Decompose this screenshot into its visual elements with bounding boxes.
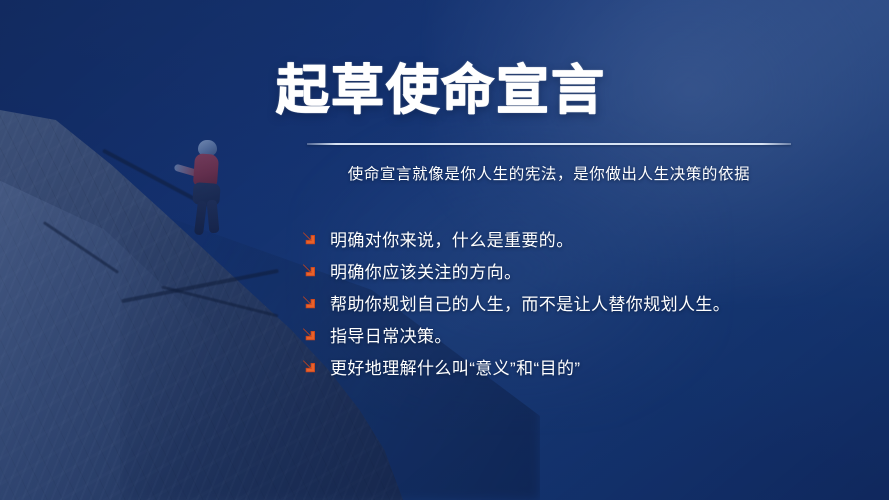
arrow-down-right-icon [300, 293, 330, 311]
list-item: 明确对你来说，什么是重要的。 [300, 222, 860, 254]
list-item-label: 明确你应该关注的方向。 [330, 258, 521, 283]
arrow-down-right-icon [300, 357, 330, 375]
list-item: 帮助你规划自己的人生，而不是让人替你规划人生。 [300, 286, 860, 318]
list-item: 指导日常决策。 [300, 318, 860, 350]
arrow-down-right-icon [300, 229, 330, 247]
list-item: 明确你应该关注的方向。 [300, 254, 860, 286]
list-item-label: 指导日常决策。 [330, 322, 452, 347]
presentation-slide: 起草使命宣言 使命宣言就像是你人生的宪法，是你做出人生决策的依据 明确对你来说，… [0, 0, 889, 500]
slide-content: 起草使命宣言 使命宣言就像是你人生的宪法，是你做出人生决策的依据 明确对你来说，… [0, 0, 889, 500]
list-item: 更好地理解什么叫“意义”和“目的” [300, 350, 860, 382]
arrow-down-right-icon [300, 261, 330, 279]
bullet-list: 明确对你来说，什么是重要的。 明确你应该关注的方向。 帮助你规划自己的人生，而不… [300, 222, 860, 382]
slide-title: 起草使命宣言 [276, 58, 606, 124]
list-item-label: 更好地理解什么叫“意义”和“目的” [330, 354, 580, 379]
title-divider [307, 143, 791, 145]
list-item-label: 帮助你规划自己的人生，而不是让人替你规划人生。 [330, 290, 730, 315]
slide-subtitle: 使命宣言就像是你人生的宪法，是你做出人生决策的依据 [307, 162, 791, 184]
list-item-label: 明确对你来说，什么是重要的。 [330, 226, 574, 251]
arrow-down-right-icon [300, 325, 330, 343]
